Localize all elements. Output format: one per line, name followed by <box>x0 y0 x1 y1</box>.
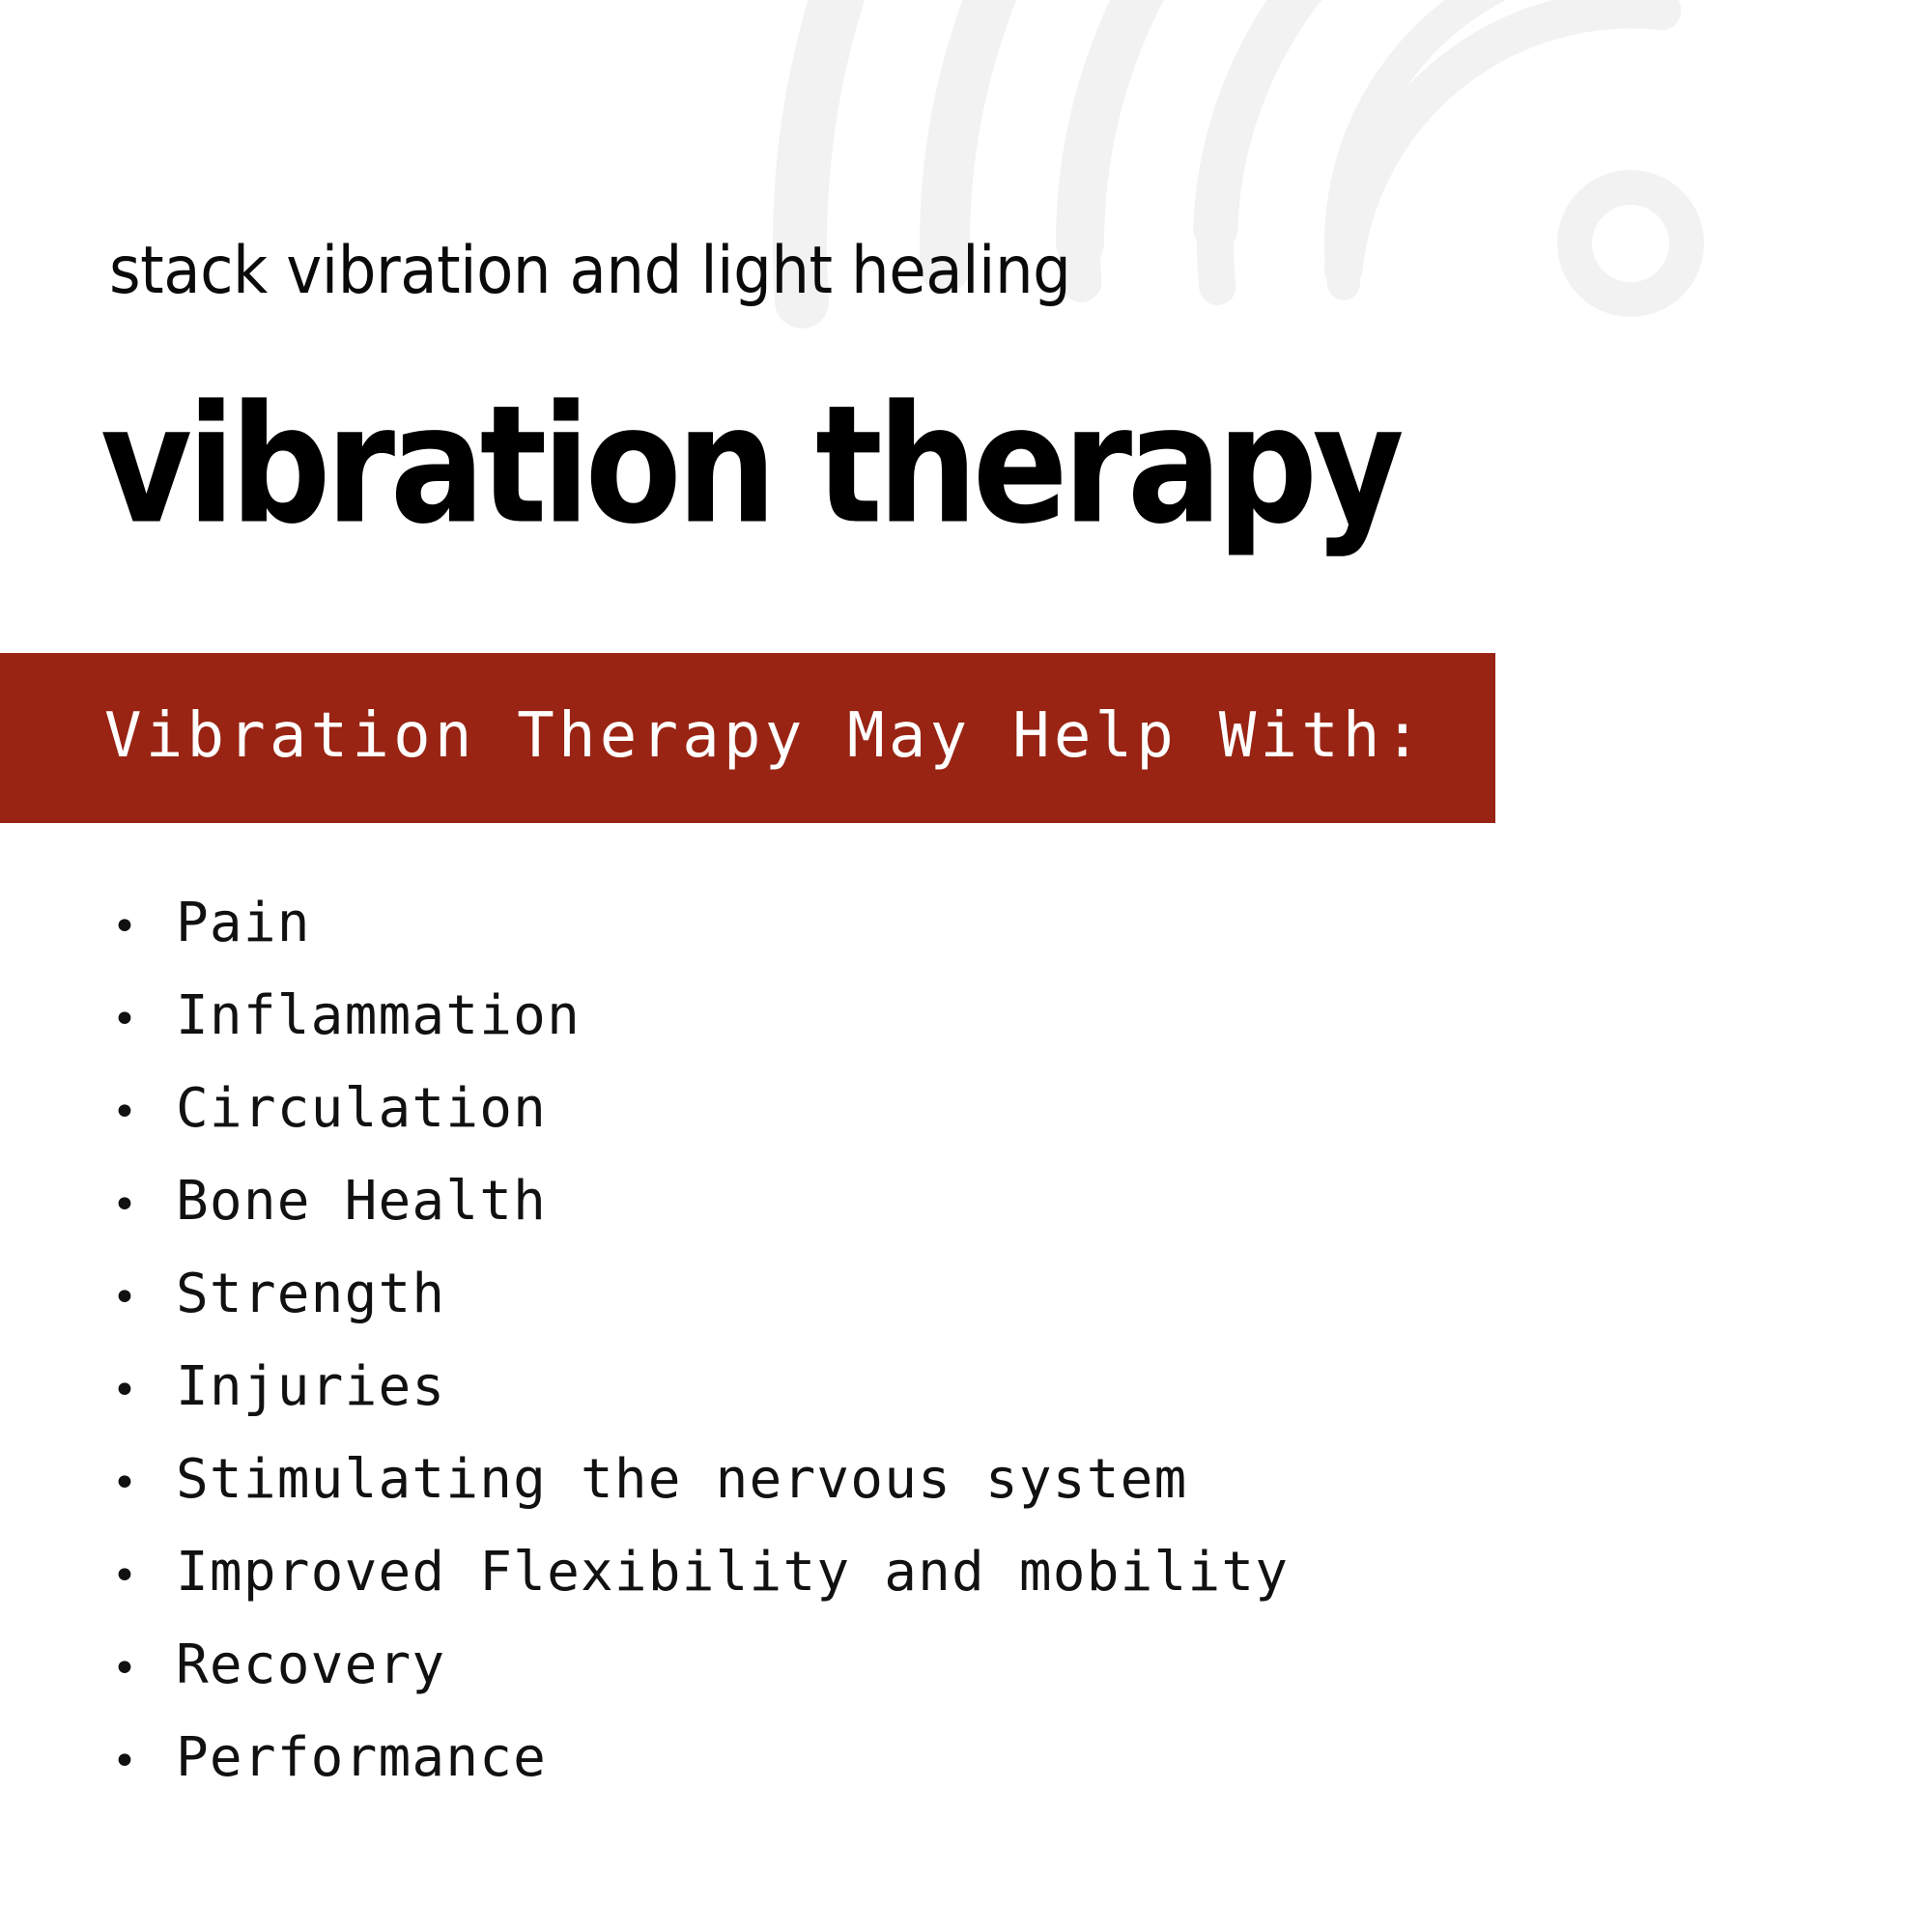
ripple-arc-top-3 <box>1043 0 1631 282</box>
list-item-label: Performance <box>176 1712 547 1804</box>
bullet-icon: • <box>106 1066 176 1159</box>
ripple-arc-outer-1 <box>922 0 1631 268</box>
bullet-icon: • <box>106 1623 176 1716</box>
list-item: •Circulation <box>106 1063 1289 1155</box>
ripple-arc-top-4 <box>922 0 1631 268</box>
ripple-arc-3 <box>1080 0 1631 243</box>
list-item-label: Pain <box>176 877 311 970</box>
list-item-label: Stimulating the nervous system <box>176 1434 1187 1526</box>
list-item: •Recovery <box>106 1619 1289 1712</box>
list-item-label: Recovery <box>176 1619 445 1712</box>
list-item: •Inflammation <box>106 970 1289 1063</box>
benefits-list: •Pain•Inflammation•Circulation•Bone Heal… <box>106 877 1289 1804</box>
bullet-icon: • <box>106 1159 176 1252</box>
list-item: •Stimulating the nervous system <box>106 1434 1289 1526</box>
benefits-banner: Vibration Therapy May Help With: <box>0 653 1495 823</box>
list-item: •Strength <box>106 1248 1289 1341</box>
ripple-core-ring <box>1575 187 1687 299</box>
vibration-therapy-poster: stack vibration and light healing vibrat… <box>0 0 1932 1932</box>
bullet-icon: • <box>106 881 176 974</box>
list-item-label: Inflammation <box>176 970 581 1063</box>
list-item-label: Improved Flexibility and mobility <box>176 1526 1289 1619</box>
poster-eyebrow: stack vibration and light healing <box>109 239 1070 304</box>
bullet-icon: • <box>106 1716 176 1808</box>
ripple-arc-top-1 <box>1303 0 1631 284</box>
list-item-label: Bone Health <box>176 1155 547 1248</box>
bullet-icon: • <box>106 1530 176 1623</box>
list-item: •Bone Health <box>106 1155 1289 1248</box>
list-item: •Injuries <box>106 1341 1289 1434</box>
list-item: •Improved Flexibility and mobility <box>106 1526 1289 1619</box>
list-item: •Performance <box>106 1712 1289 1804</box>
list-item: •Pain <box>106 877 1289 970</box>
bullet-icon: • <box>106 1252 176 1345</box>
ripple-arc-top-2 <box>1174 0 1631 287</box>
bullet-icon: • <box>106 974 176 1066</box>
bullet-icon: • <box>106 1437 176 1530</box>
ripple-arc-1 <box>1344 0 1662 298</box>
list-item-label: Injuries <box>176 1341 445 1434</box>
bullet-icon: • <box>106 1345 176 1437</box>
benefits-banner-title: Vibration Therapy May Help With: <box>104 699 1425 774</box>
list-item-label: Strength <box>176 1248 445 1341</box>
list-item-label: Circulation <box>176 1063 547 1155</box>
page-title: vibration therapy <box>100 384 1399 547</box>
ripple-arc-2 <box>1215 0 1645 243</box>
